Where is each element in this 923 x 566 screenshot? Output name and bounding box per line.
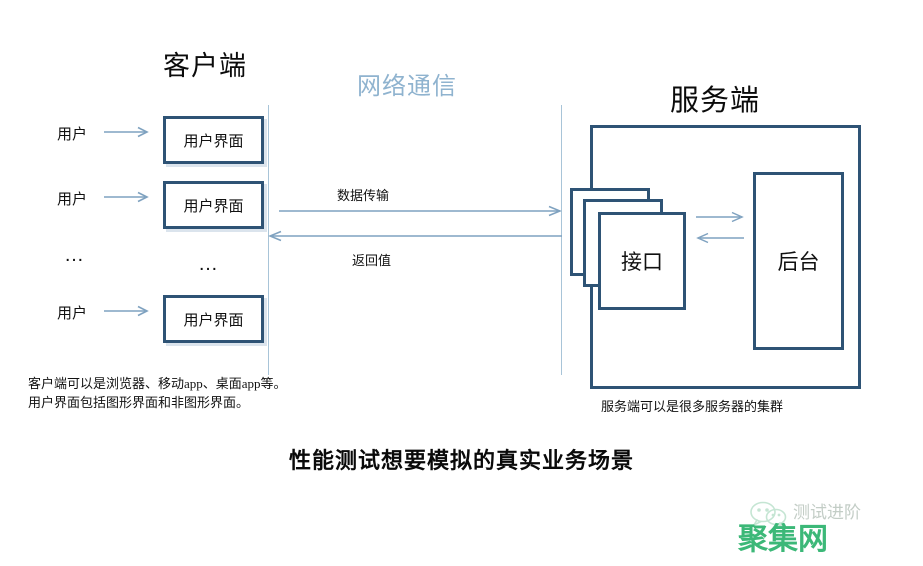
user-interface-box[interactable]: 用户界面 [163, 295, 264, 343]
interface-box[interactable]: 接口 [598, 212, 686, 310]
server-note: 服务端可以是很多服务器的集群 [601, 397, 783, 416]
client-note-line-2: 用户界面包括图形界面和非图形界面。 [28, 393, 249, 412]
user-interface-box[interactable]: 用户界面 [163, 181, 264, 229]
ui-list-ellipsis: … [198, 254, 221, 274]
backend-box[interactable]: 后台 [753, 172, 844, 350]
backend-to-interface-arrow-icon [696, 232, 744, 244]
user-label: 用户 [57, 125, 87, 145]
user-to-ui-arrow-icon [104, 126, 150, 138]
user-list-ellipsis: … [64, 245, 87, 265]
network-section-heading: 网络通信 [357, 72, 457, 103]
user-interface-box[interactable]: 用户界面 [163, 116, 264, 164]
diagram-canvas: 客户端 网络通信 服务端 用户 用户界面 用户 用户界面 … … 用户 用户界面… [0, 0, 923, 566]
data-transmission-label: 数据传输 [337, 185, 389, 204]
client-note-line-1: 客户端可以是浏览器、移动app、桌面app等。 [28, 374, 287, 393]
return-value-label: 返回值 [352, 250, 391, 269]
interface-to-backend-arrow-icon [696, 211, 744, 223]
data-transmission-arrow-icon [279, 205, 562, 217]
user-label: 用户 [57, 190, 87, 210]
user-to-ui-arrow-icon [104, 305, 150, 317]
watermark: 测试进阶 聚集网 [735, 497, 920, 563]
diagram-caption: 性能测试想要模拟的真实业务场景 [0, 446, 923, 476]
user-label: 用户 [57, 304, 87, 324]
user-to-ui-arrow-icon [104, 191, 150, 203]
watermark-site-name: 聚集网 [738, 521, 828, 559]
client-section-heading: 客户端 [163, 49, 247, 83]
server-section-heading: 服务端 [670, 83, 760, 119]
return-value-arrow-icon [268, 230, 562, 242]
